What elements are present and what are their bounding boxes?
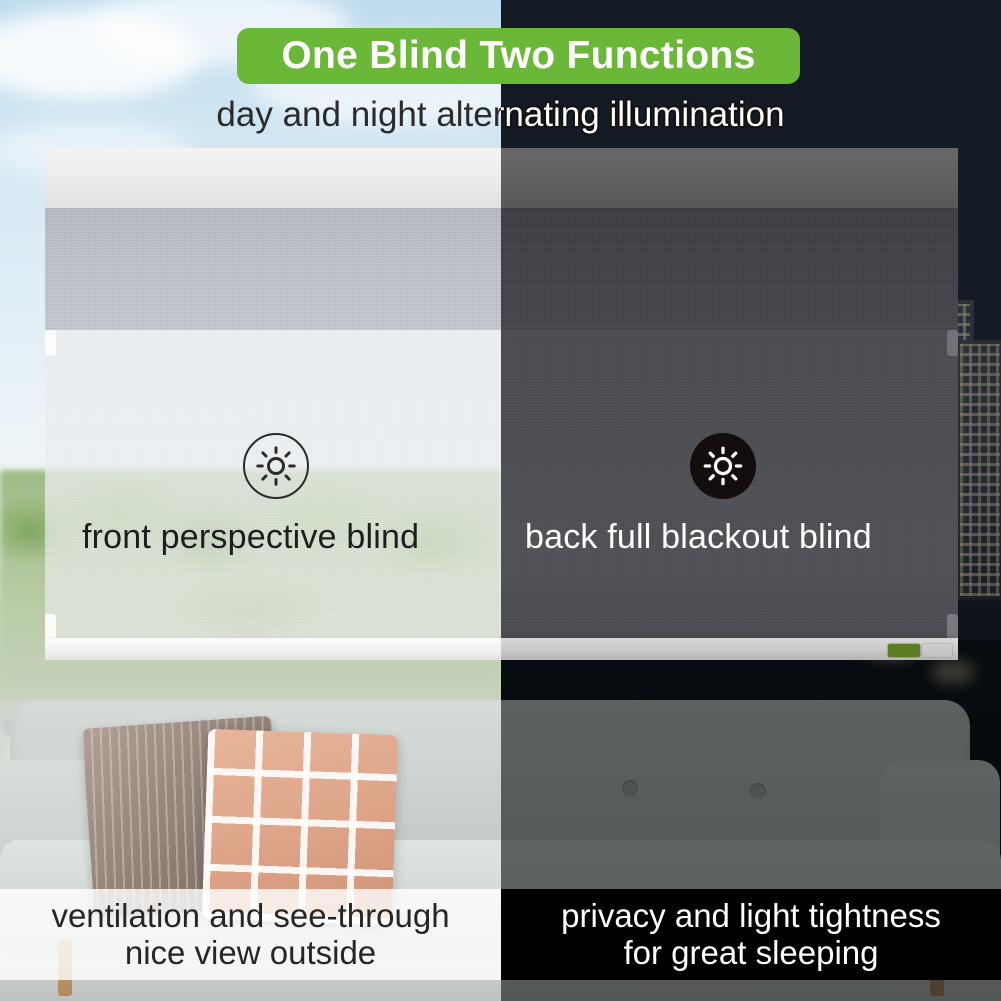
caption-night: privacy and light tightness for great sl…	[501, 889, 1001, 980]
caption-day: ventilation and see-through nice view ou…	[0, 889, 501, 980]
blind-side-tab	[947, 614, 958, 640]
blind-day-half	[45, 148, 501, 660]
blind-label-back: back full blackout blind	[525, 518, 872, 557]
blind-headrail-night	[501, 148, 958, 208]
blind-opaque-fabric-night	[501, 208, 958, 330]
blind-bottom-rail-day	[45, 638, 501, 660]
blind-night-half	[501, 148, 958, 660]
caption-day-line2: nice view outside	[125, 935, 376, 972]
brand-sticker-grey	[922, 644, 952, 657]
city-tower	[956, 340, 1001, 600]
caption-night-line1: privacy and light tightness	[561, 898, 941, 935]
blind-side-tab	[45, 330, 56, 356]
sun-icon	[243, 433, 309, 499]
blind-side-tab	[45, 614, 56, 640]
title-badge: One Blind Two Functions	[237, 28, 800, 84]
blind-opaque-fabric-day	[45, 208, 501, 330]
blind-bottom-rail-night	[501, 638, 958, 660]
blind-label-front: front perspective blind	[82, 518, 419, 557]
subtitle: day and night alternating illumination d…	[0, 92, 1001, 138]
roller-blind	[45, 148, 958, 660]
blind-headrail-day	[45, 148, 501, 208]
page-title: One Blind Two Functions	[281, 34, 755, 78]
brand-sticker-green	[888, 644, 920, 657]
sun-icon	[690, 433, 756, 499]
product-comparison-image: front perspective blind back full blacko…	[0, 0, 1001, 1001]
caption-day-line1: ventilation and see-through	[51, 898, 449, 935]
blind-side-tab	[947, 330, 958, 356]
caption-night-line2: for great sleeping	[624, 935, 879, 972]
